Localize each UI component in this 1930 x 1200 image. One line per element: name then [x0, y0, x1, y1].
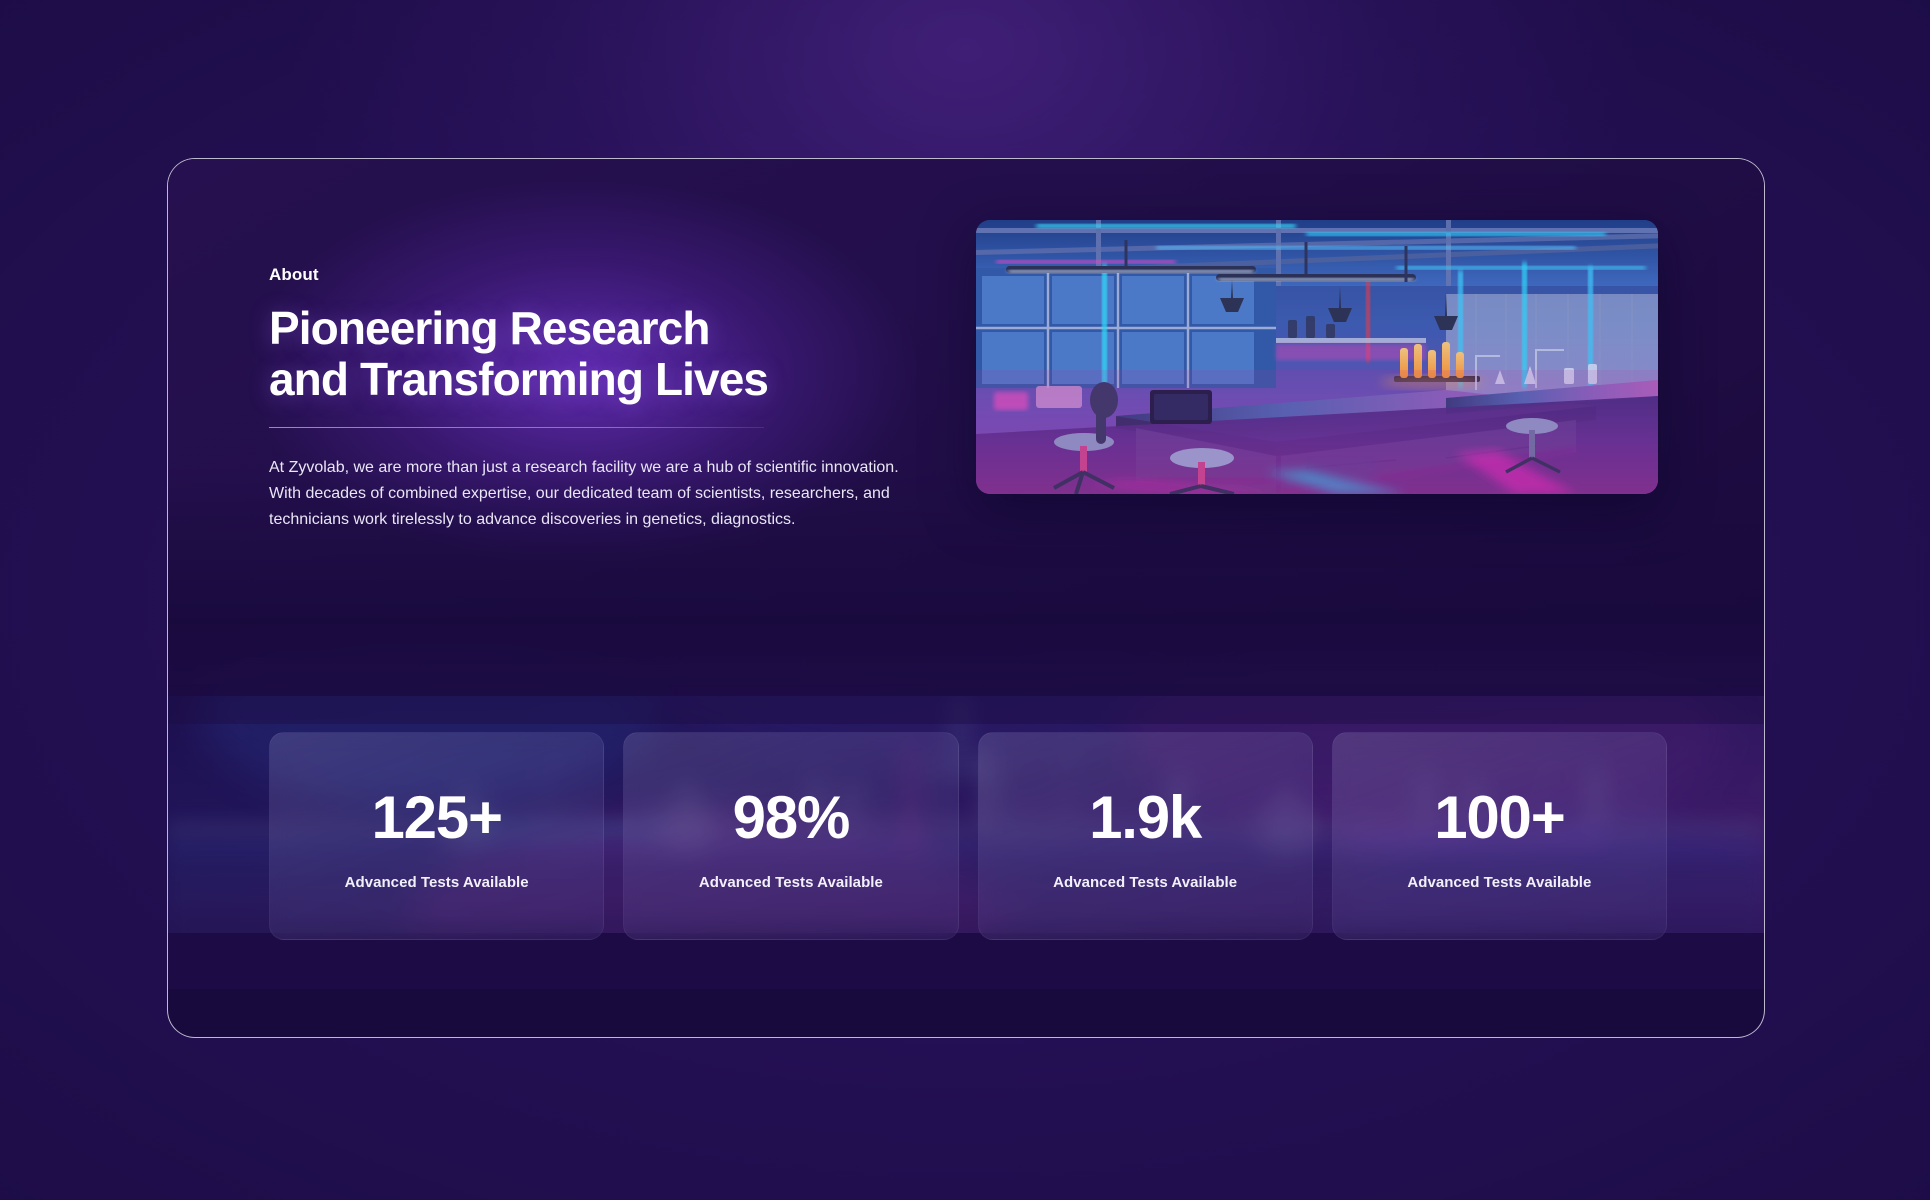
- stats-row: 125+ Advanced Tests Available 98% Advanc…: [269, 732, 1667, 940]
- title-divider: [269, 427, 764, 428]
- about-section-panel: About Pioneering Research and Transformi…: [167, 158, 1765, 1038]
- stats-band: 125+ Advanced Tests Available 98% Advanc…: [168, 624, 1764, 989]
- laboratory-photo: [976, 220, 1658, 494]
- stat-value: 125+: [371, 788, 501, 848]
- stat-card: 1.9k Advanced Tests Available: [978, 732, 1313, 940]
- stats-band-footer: [168, 933, 1764, 989]
- section-body-text: At Zyvolab, we are more than just a rese…: [269, 455, 909, 533]
- stat-card: 125+ Advanced Tests Available: [269, 732, 604, 940]
- stat-value: 98%: [733, 788, 850, 848]
- stat-card: 98% Advanced Tests Available: [623, 732, 958, 940]
- stat-value: 1.9k: [1089, 788, 1201, 848]
- stat-card: 100+ Advanced Tests Available: [1332, 732, 1667, 940]
- stat-label: Advanced Tests Available: [1053, 874, 1237, 891]
- stat-label: Advanced Tests Available: [345, 874, 529, 891]
- stat-label: Advanced Tests Available: [1407, 874, 1591, 891]
- laboratory-photo-graphic: [976, 220, 1658, 494]
- stat-value: 100+: [1434, 788, 1564, 848]
- headline-line-1: Pioneering Research: [269, 302, 710, 354]
- section-eyebrow: About: [269, 265, 909, 285]
- page-title: Pioneering Research and Transforming Liv…: [269, 303, 909, 405]
- headline-line-2: and Transforming Lives: [269, 353, 768, 405]
- hero-text-column: About Pioneering Research and Transformi…: [269, 265, 909, 533]
- stat-label: Advanced Tests Available: [699, 874, 883, 891]
- page-root: About Pioneering Research and Transformi…: [0, 0, 1930, 1200]
